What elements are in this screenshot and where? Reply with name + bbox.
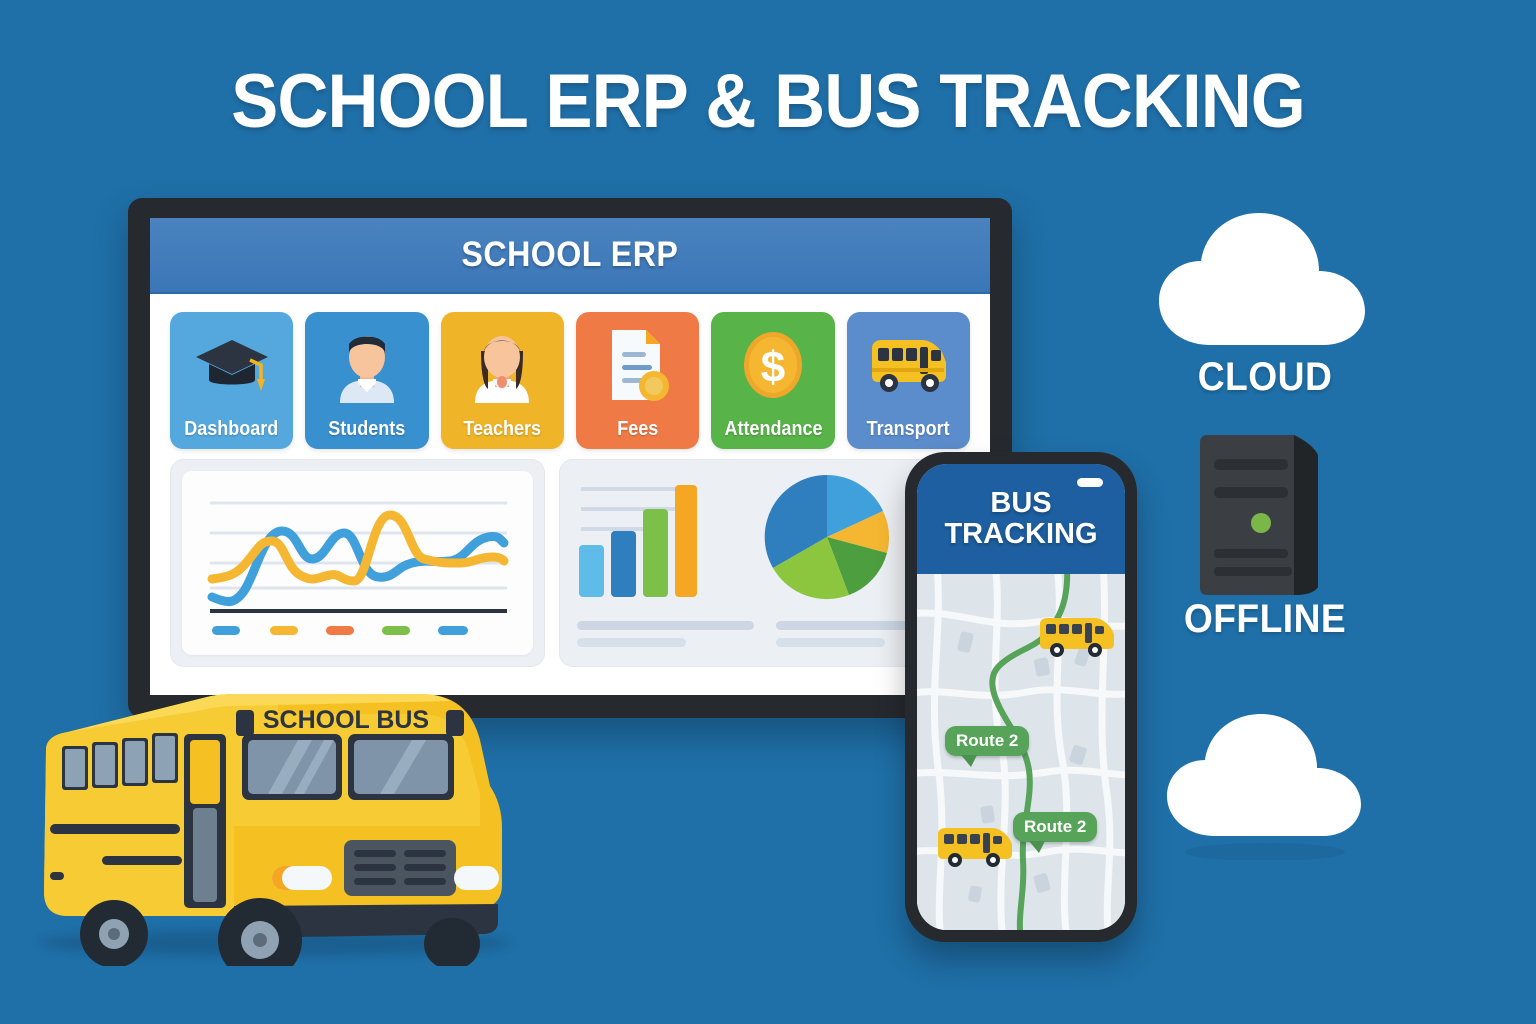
dollar-coin-icon: $ [711,324,834,406]
offline-feature: OFFLINE [1135,425,1395,642]
teacher-avatar-icon [441,324,564,406]
module-tile-label: Students [328,418,405,441]
illustration-canvas: SCHOOL ERP & BUS TRACKING SCHOOL ERP [0,0,1536,1024]
route-label-bottom[interactable]: Route 2 [1013,812,1097,842]
cloud-download-icon [1135,700,1395,860]
module-tile-label: Dashboard [185,418,279,441]
placeholder-line [776,638,885,647]
module-tile-students[interactable]: Students [305,312,428,449]
invoice-coin-icon [576,324,699,406]
line-chart-card [170,459,545,667]
module-tile-teachers[interactable]: Teachers [441,312,564,449]
school-bus-illustration: SCHOOL BUS [28,676,528,966]
bus-tracking-title-line2: TRACKING [944,519,1097,550]
placeholder-line [577,638,686,647]
module-tile-label: Fees [617,418,658,441]
line-chart-panel [182,471,533,655]
erp-app-header: SCHOOL ERP [150,218,990,294]
bus-sign-text: SCHOOL BUS [263,706,429,734]
erp-app-title: SCHOOL ERP [462,235,679,275]
route-label-top[interactable]: Route 2 [945,726,1029,756]
server-tower-icon [1135,425,1395,597]
bus-tracking-header: BUS TRACKING [917,464,1125,574]
bar-pie-row [571,471,958,615]
page-title: SCHOOL ERP & BUS TRACKING [54,58,1482,145]
module-tile-dashboard[interactable]: Dashboard [170,312,293,449]
cloud-feature: CLOUD [1135,205,1395,400]
graduation-cap-icon [170,324,293,406]
monitor-screen: SCHOOL ERP Dashboard [150,218,990,695]
pie-chart [751,471,911,609]
cloud-download-feature [1135,700,1395,860]
map-bus-icon [1035,614,1119,658]
svg-text:$: $ [761,343,785,392]
phone-speaker-icon [1077,478,1103,487]
line-chart [182,471,533,655]
module-tile-attendance[interactable]: $ Attendance [711,312,834,449]
cloud-upload-icon [1135,205,1395,355]
desktop-monitor: SCHOOL ERP Dashboard [128,198,1012,718]
bar-chart [571,471,741,609]
offline-feature-label: OFFLINE [1144,597,1386,642]
module-tile-label: Teachers [463,418,541,441]
bus-icon [847,324,970,406]
map-bus-icon [933,824,1017,868]
smartphone: BUS TRACKING [905,452,1137,942]
placeholder-line [577,621,754,630]
cloud-feature-label: CLOUD [1144,355,1386,400]
dashboard-charts-row [150,459,990,667]
live-map[interactable]: Route 2 Route 2 [917,574,1125,930]
module-tile-fees[interactable]: Fees [576,312,699,449]
module-tile-label: Transport [867,418,950,441]
module-tile-grid: Dashboard Students [150,294,990,459]
bus-tracking-title-line1: BUS [990,488,1051,519]
module-tile-transport[interactable]: Transport [847,312,970,449]
phone-screen: BUS TRACKING [917,464,1125,930]
bar-chart-caption [571,615,760,655]
student-avatar-icon [305,324,428,406]
module-tile-label: Attendance [724,418,822,441]
